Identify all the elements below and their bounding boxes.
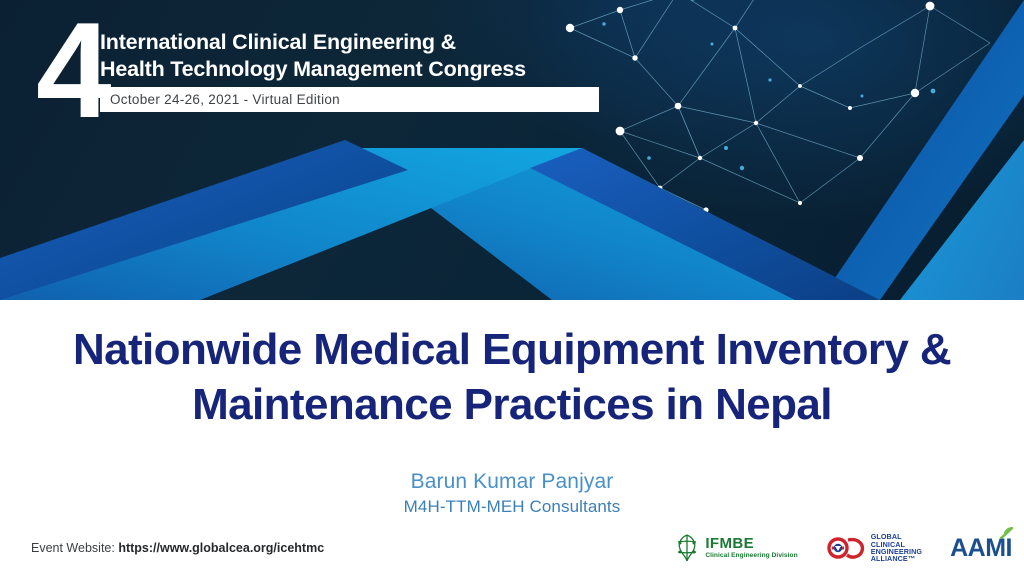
event-website-url: https://www.globalcea.org/icehtmc [118,541,324,555]
gcea-line-4: ALLIANCE™ [871,555,922,562]
ifmbe-logo: IFMBE Clinical Engineering Division [674,533,797,563]
gcea-text: GLOBAL CLINICAL ENGINEERING ALLIANCE™ [871,533,922,562]
ifmbe-mark-icon [674,533,700,563]
author-affiliation: M4H-TTM-MEH Consultants [212,495,812,519]
gcea-mark-icon [826,534,866,562]
congress-date-bar: October 24-26, 2021 - Virtual Edition [100,87,599,112]
congress-title-line-1: International Clinical Engineering & [100,29,630,56]
author-name: Barun Kumar Panjyar [212,468,812,495]
congress-logo-block: 4 International Clinical Engineering & H… [36,18,636,128]
sponsor-logos: IFMBE Clinical Engineering Division GLOB… [674,528,1012,568]
gcea-logo: GLOBAL CLINICAL ENGINEERING ALLIANCE™ [826,533,922,562]
aami-logo: AAMI [950,536,1012,561]
event-website: Event Website: https://www.globalcea.org… [31,540,324,556]
event-website-label: Event Website: [31,541,115,555]
congress-title: International Clinical Engineering & Hea… [100,29,630,83]
aami-leaf-icon [1000,527,1014,540]
ifmbe-name: IFMBE [705,536,797,551]
presentation-title: Nationwide Medical Equipment Inventory &… [62,322,962,432]
slide-banner: 4 International Clinical Engineering & H… [0,0,1024,300]
author-block: Barun Kumar Panjyar M4H-TTM-MEH Consulta… [212,468,812,519]
ifmbe-subtitle: Clinical Engineering Division [705,553,797,560]
congress-title-line-2: Health Technology Management Congress [100,56,630,83]
presentation-slide: 4 International Clinical Engineering & H… [0,0,1024,576]
edition-number: 4 [36,2,108,138]
ifmbe-text: IFMBE Clinical Engineering Division [705,536,797,560]
congress-date-text: October 24-26, 2021 - Virtual Edition [100,93,340,107]
